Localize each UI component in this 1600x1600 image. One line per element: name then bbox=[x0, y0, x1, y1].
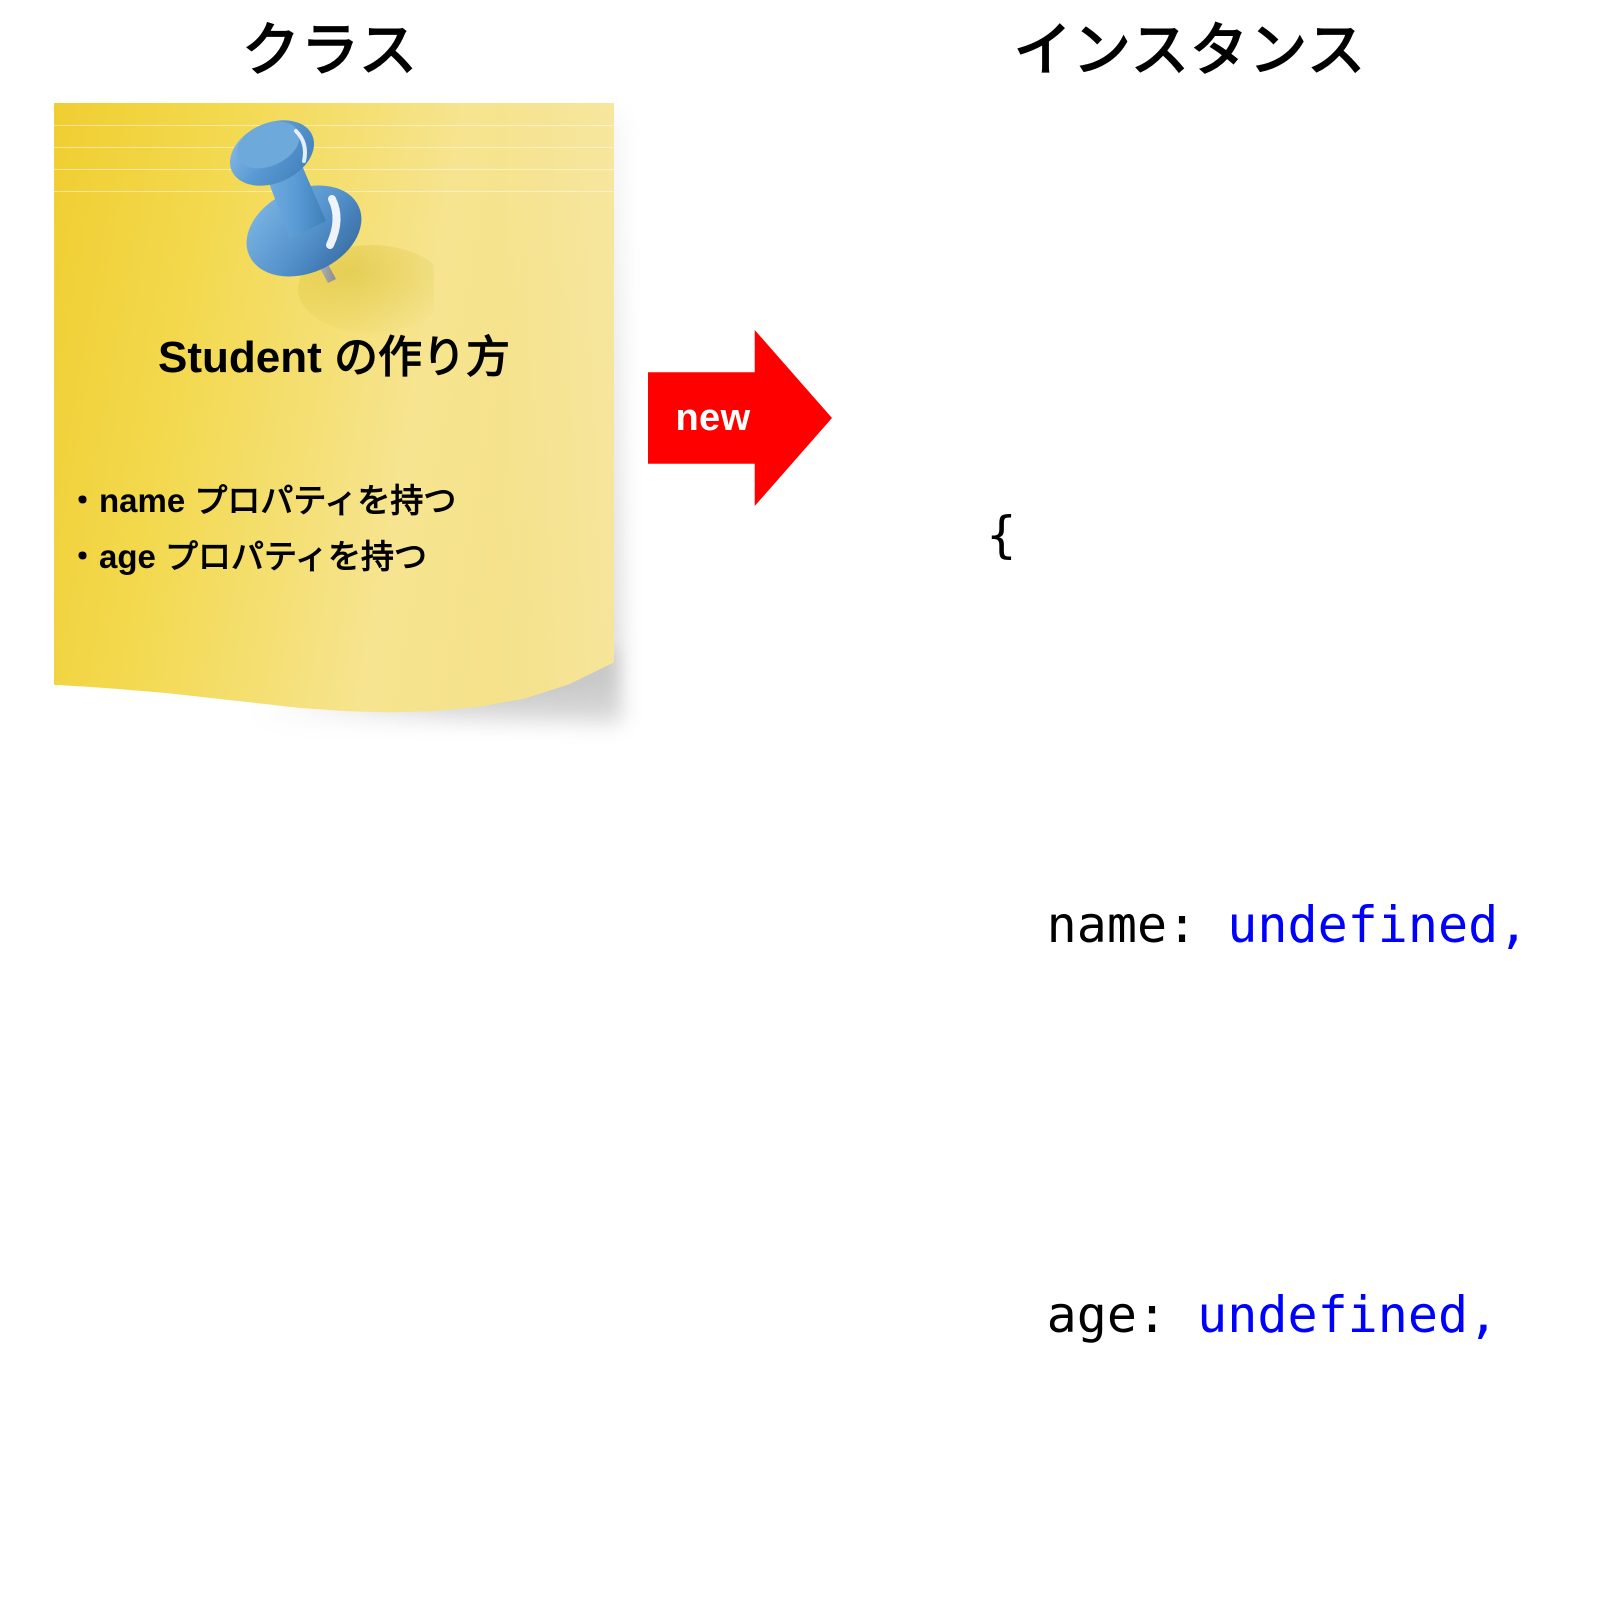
sticky-note: Student の作り方 ・name プロパティを持つ ・age プロパティを持… bbox=[54, 103, 614, 763]
instance-object-code: { name: undefined, age: undefined, } bbox=[866, 262, 1528, 1600]
code-line: } bbox=[866, 1588, 1528, 1600]
note-title: Student の作り方 bbox=[54, 321, 614, 385]
new-arrow: new bbox=[648, 330, 832, 506]
note-bullet-item: ・age プロパティを持つ bbox=[62, 529, 614, 585]
note-bullet-item: ・name プロパティを持つ bbox=[62, 473, 614, 529]
code-line: { bbox=[866, 418, 1528, 652]
note-sheen bbox=[494, 103, 614, 728]
code-text: name: bbox=[1047, 896, 1228, 954]
note-bullet-list: ・name プロパティを持つ ・age プロパティを持つ bbox=[62, 473, 614, 585]
code-text: age: bbox=[1047, 1286, 1198, 1344]
code-indent bbox=[986, 896, 1046, 954]
code-line: name: undefined, bbox=[866, 808, 1528, 1042]
code-line: age: undefined, bbox=[866, 1198, 1528, 1432]
code-value: undefined, bbox=[1197, 1286, 1498, 1344]
pushpin-icon bbox=[204, 103, 434, 333]
instance-column-heading: インスタンス bbox=[840, 16, 1540, 86]
new-arrow-label: new bbox=[654, 330, 772, 506]
code-value: undefined, bbox=[1227, 896, 1528, 954]
code-indent bbox=[986, 1286, 1046, 1344]
code-text: { bbox=[986, 506, 1016, 564]
class-column-heading: クラス bbox=[0, 16, 660, 86]
